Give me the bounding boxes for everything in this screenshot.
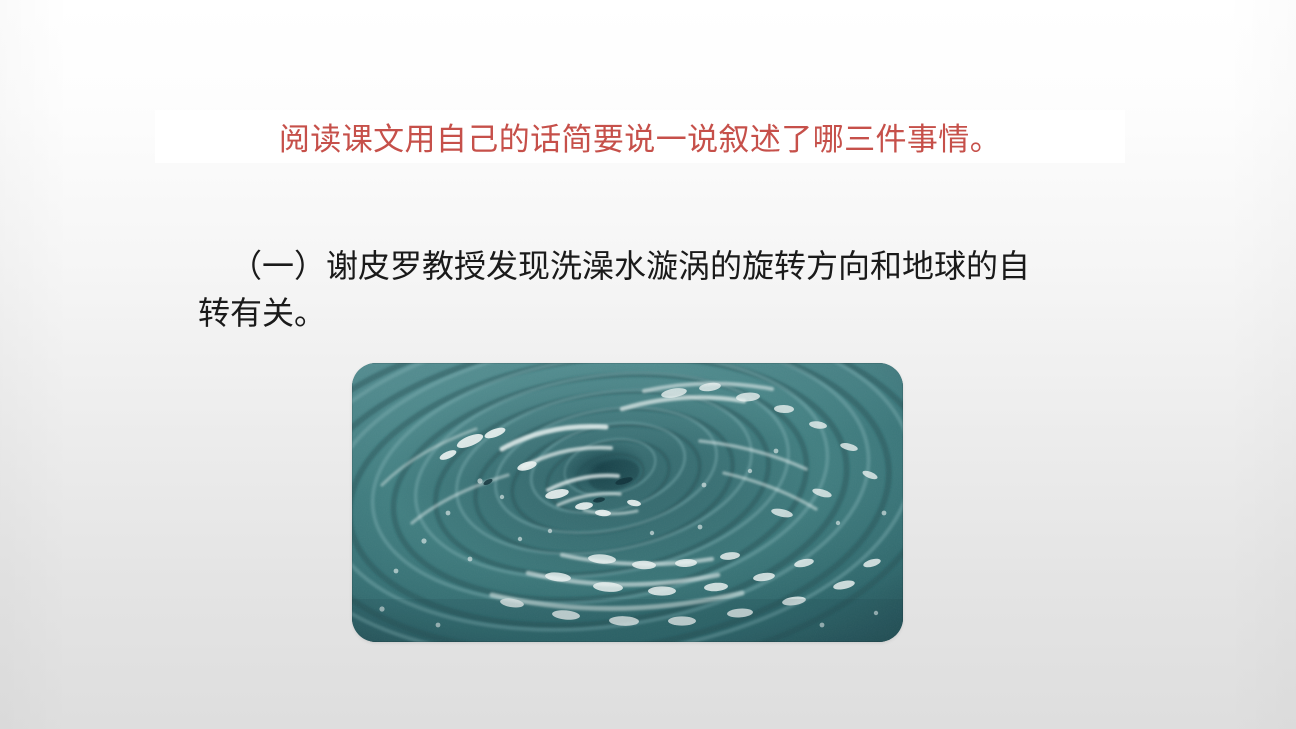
- whirlpool-illustration: [352, 363, 903, 642]
- body-paragraph: （一）谢皮罗教授发现洗澡水漩涡的旋转方向和地球的自转有关。: [198, 243, 1058, 337]
- page-title: 阅读课文用自己的话简要说一说叙述了哪三件事情。: [155, 110, 1125, 163]
- slide-canvas: 阅读课文用自己的话简要说一说叙述了哪三件事情。 （一）谢皮罗教授发现洗澡水漩涡的…: [0, 0, 1296, 729]
- whirlpool-image: [352, 363, 903, 642]
